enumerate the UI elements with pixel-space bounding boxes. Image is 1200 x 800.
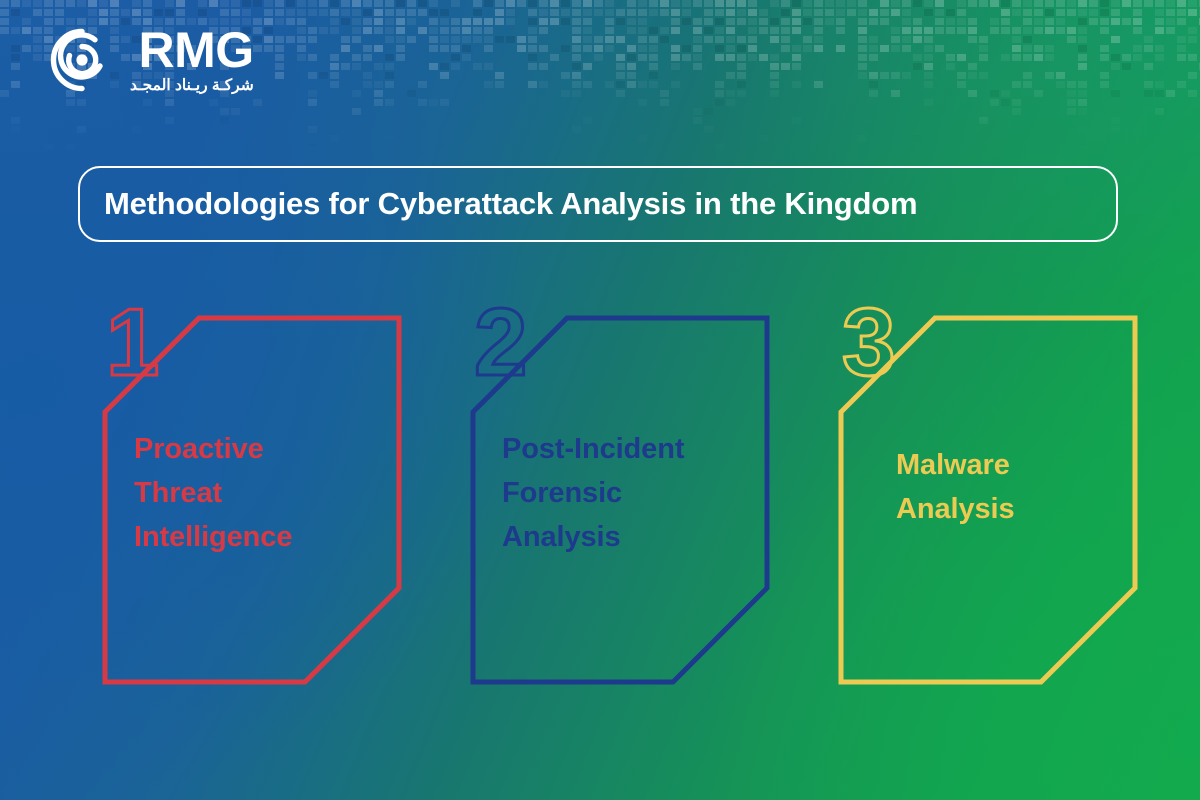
card-label-line: Forensic	[502, 471, 738, 515]
methodology-cards: 1 Proactive Threat Intelligence 2 Post-I…	[0, 315, 1200, 685]
brand-arabic-name: شركـة ريـناد المجـد	[130, 77, 254, 94]
page-title: Methodologies for Cyberattack Analysis i…	[80, 186, 917, 222]
rmg-spiral-logo-icon	[48, 26, 116, 94]
card-label-line: Intelligence	[134, 515, 370, 559]
card-label-line: Malware	[896, 443, 1132, 487]
card-label-line: Post-Incident	[502, 427, 738, 471]
card-label-line: Analysis	[502, 515, 738, 559]
infographic-canvas: RMG شركـة ريـناد المجـد Methodologies fo…	[0, 0, 1200, 800]
methodology-card-1[interactable]: 1 Proactive Threat Intelligence	[102, 315, 402, 685]
page-title-pill: Methodologies for Cyberattack Analysis i…	[78, 166, 1118, 242]
brand-logo: RMG شركـة ريـناد المجـد	[48, 26, 254, 94]
brand-wordmark: RMG شركـة ريـناد المجـد	[130, 26, 254, 94]
card-label-line: Proactive	[134, 427, 370, 471]
brand-name: RMG	[139, 26, 254, 74]
card-label-line: Threat	[134, 471, 370, 515]
card-label-1: Proactive Threat Intelligence	[134, 427, 370, 559]
methodology-card-3[interactable]: 3 Malware Analysis	[838, 315, 1138, 685]
card-label-line: Analysis	[896, 487, 1132, 531]
methodology-card-2[interactable]: 2 Post-Incident Forensic Analysis	[470, 315, 770, 685]
card-label-3: Malware Analysis	[896, 443, 1132, 531]
card-label-2: Post-Incident Forensic Analysis	[502, 427, 738, 559]
